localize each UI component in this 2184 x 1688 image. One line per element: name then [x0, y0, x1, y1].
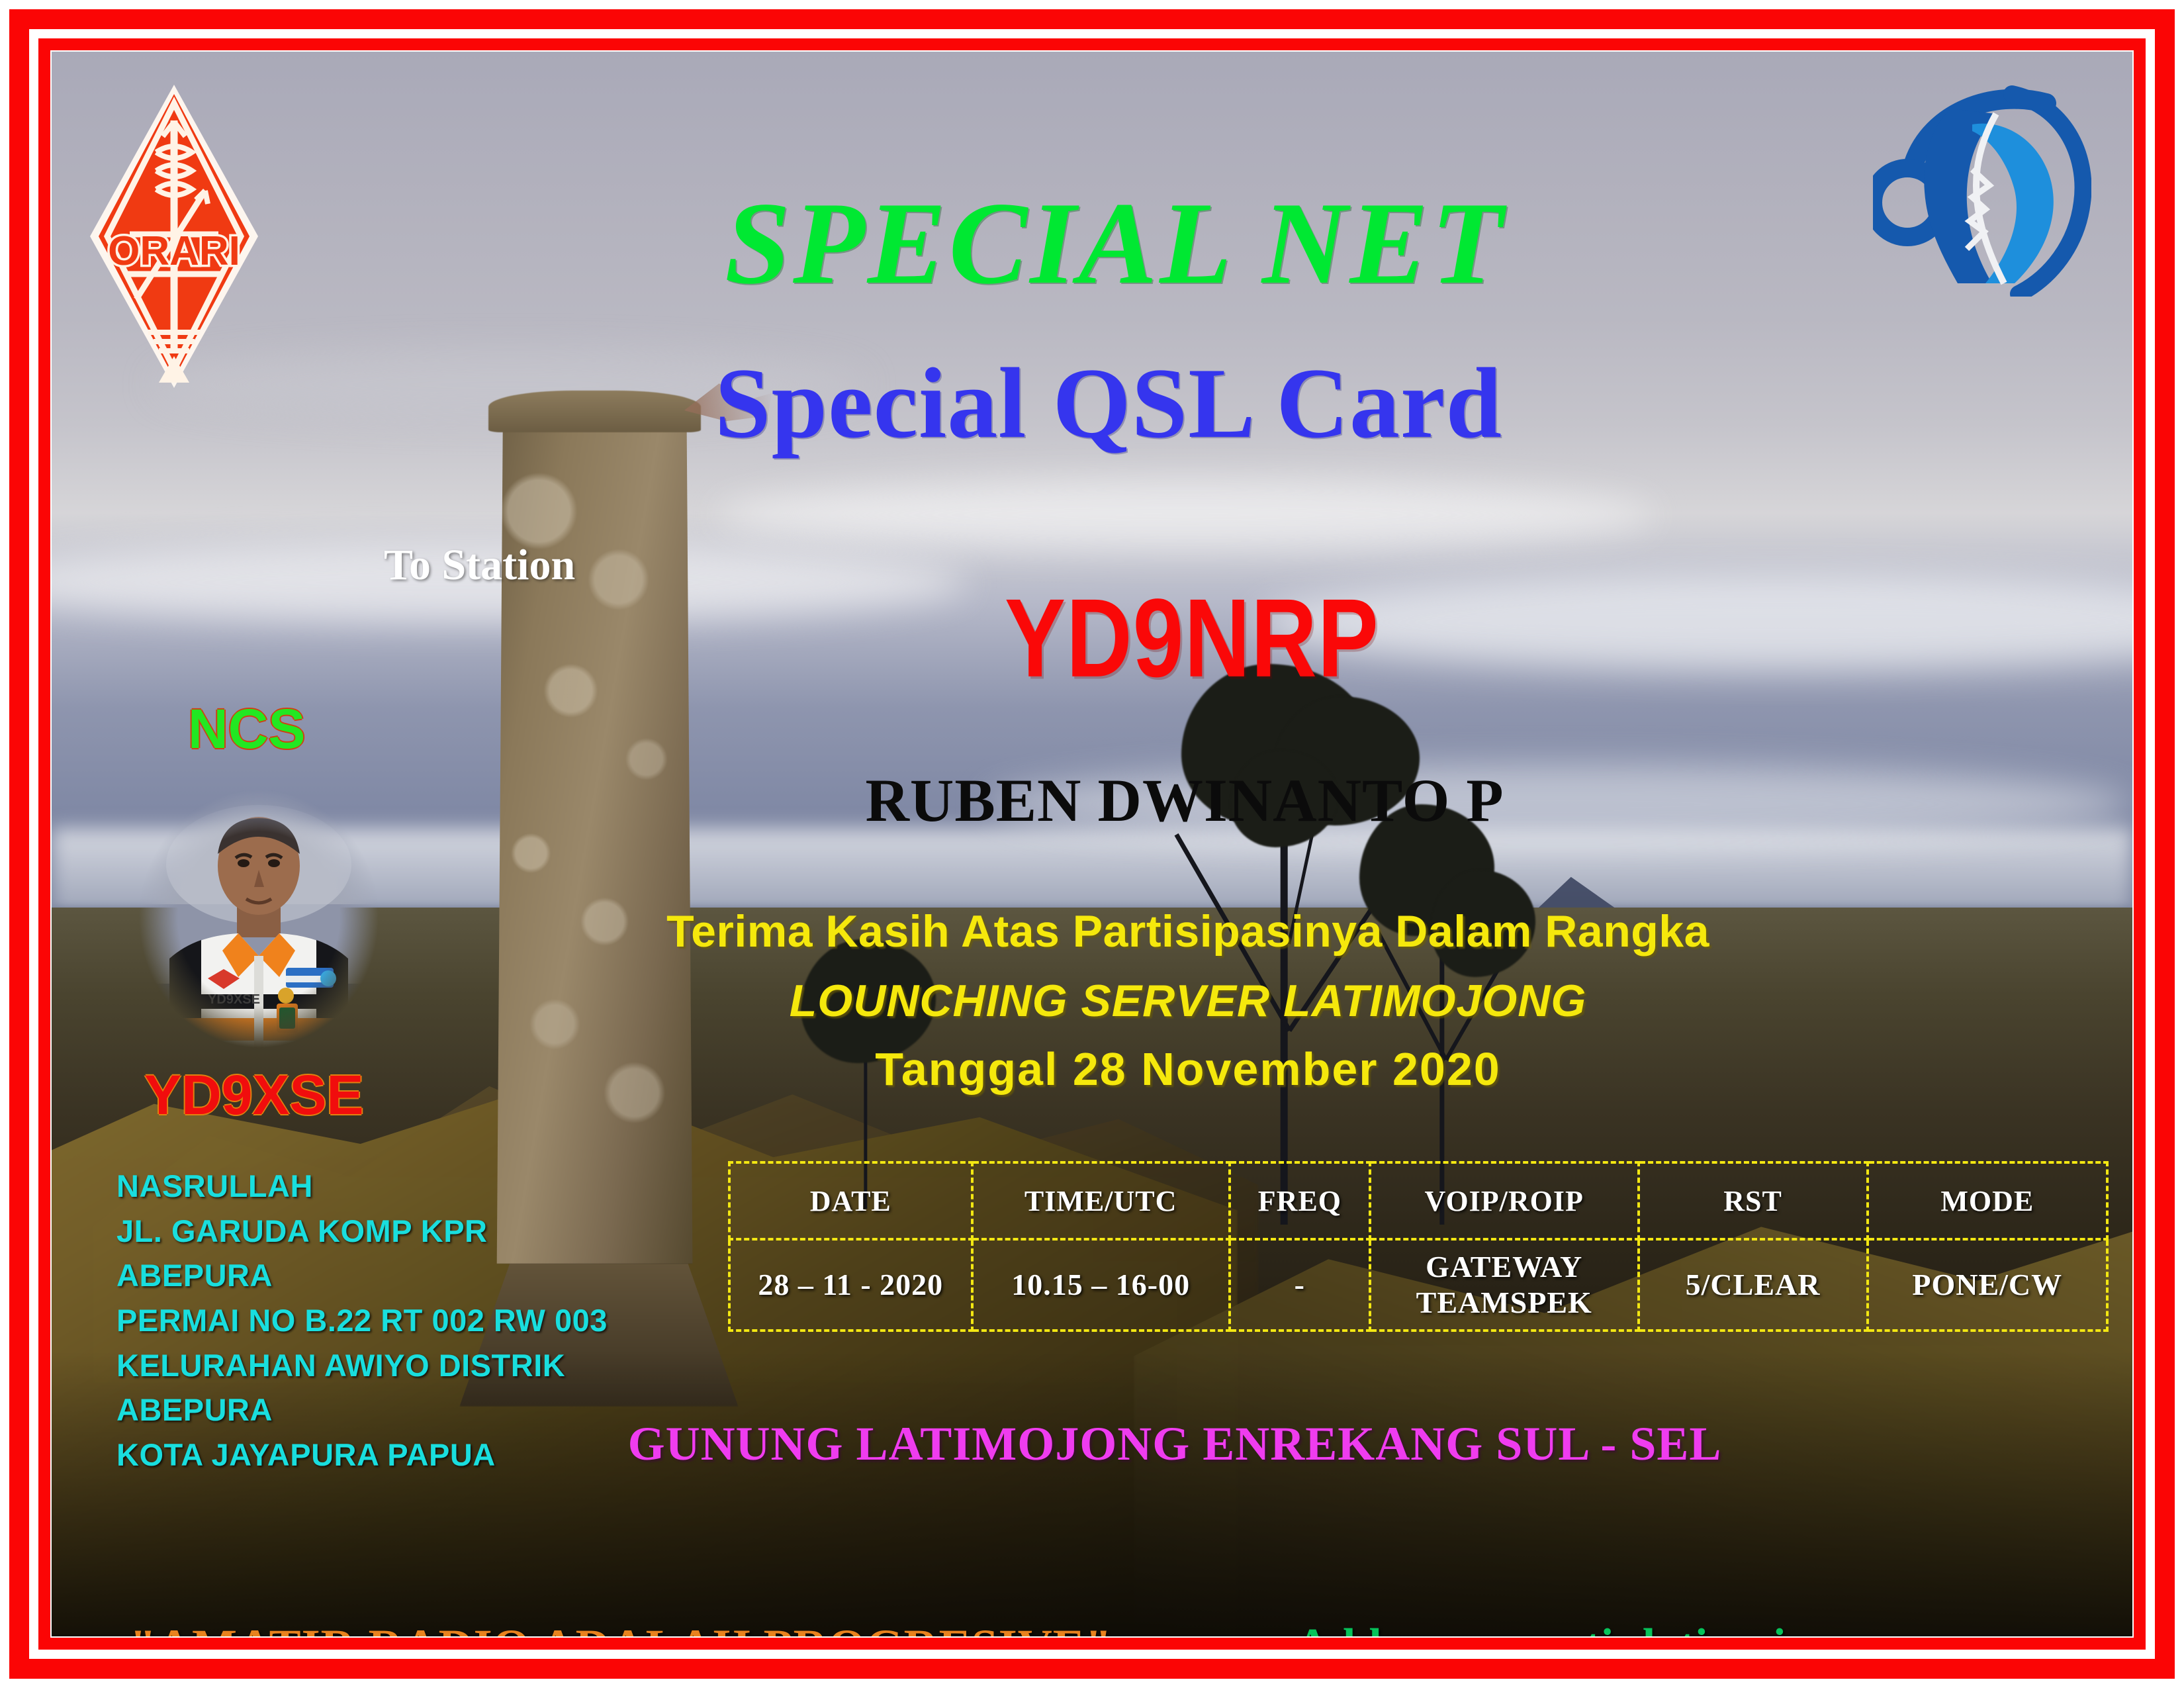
header-rst: RST [1639, 1162, 1868, 1239]
address-line: PERMAI NO B.22 RT 002 RW 003 [116, 1298, 608, 1343]
cell-voip: GATEWAY TEAMSPEK [1370, 1239, 1639, 1331]
stone-cairn-monument [495, 408, 695, 1264]
cell-voip-line2: TEAMSPEK [1372, 1285, 1637, 1321]
location-line: GUNUNG LATIMOJONG ENREKANG SUL - SEL [52, 1417, 2132, 1472]
page-subtitle: Special QSL Card [52, 353, 2132, 453]
cell-freq: - [1230, 1239, 1370, 1331]
to-station-label: To Station [384, 540, 575, 590]
address-line: ABEPURA [116, 1253, 608, 1298]
header-voip: VOIP/ROIP [1370, 1162, 1639, 1239]
qso-log-table: DATE TIME/UTC FREQ VOIP/ROIP RST MODE 28… [728, 1161, 2109, 1332]
header-freq: FREQ [1230, 1162, 1370, 1239]
qsl-card: ORARI SPECIAL NET Special QSL Card To St… [0, 0, 2184, 1688]
page-title: SPECIAL NET [52, 184, 2132, 302]
table-header-row: DATE TIME/UTC FREQ VOIP/ROIP RST MODE [729, 1162, 2107, 1239]
header-time: TIME/UTC [972, 1162, 1230, 1239]
address-line: KELURAHAN AWIYO DISTRIK [116, 1343, 608, 1388]
cell-mode: PONE/CW [1868, 1239, 2107, 1331]
website-address: Address : amatir.latimojong.com [1296, 1619, 1954, 1636]
address-line: NASRULLAH [116, 1164, 608, 1209]
header-mode: MODE [1868, 1162, 2107, 1239]
background-photo: ORARI SPECIAL NET Special QSL Card To St… [52, 52, 2132, 1636]
address-line: JL. GARUDA KOMP KPR [116, 1209, 608, 1254]
cloud-band [717, 479, 1654, 551]
table-row: 28 – 11 - 2020 10.15 – 16-00 - GATEWAY T… [729, 1239, 2107, 1331]
station-callsign: YD9NRP [1005, 575, 1379, 703]
motto-text: "AMATIR RADIO ADALAH PROGRESIVE" [130, 1619, 1113, 1636]
ncs-operator-photo: YD9XSE [130, 785, 388, 1063]
ncs-label: NCS [188, 697, 305, 761]
cell-rst: 5/CLEAR [1639, 1239, 1868, 1331]
ncs-callsign: YD9XSE [144, 1063, 364, 1127]
photo-shirt-callsign: YD9XSE [208, 992, 260, 1007]
header-date: DATE [729, 1162, 972, 1239]
cell-time: 10.15 – 16-00 [972, 1239, 1230, 1331]
cell-voip-line1: GATEWAY [1372, 1249, 1637, 1285]
cell-date: 28 – 11 - 2020 [729, 1239, 972, 1331]
